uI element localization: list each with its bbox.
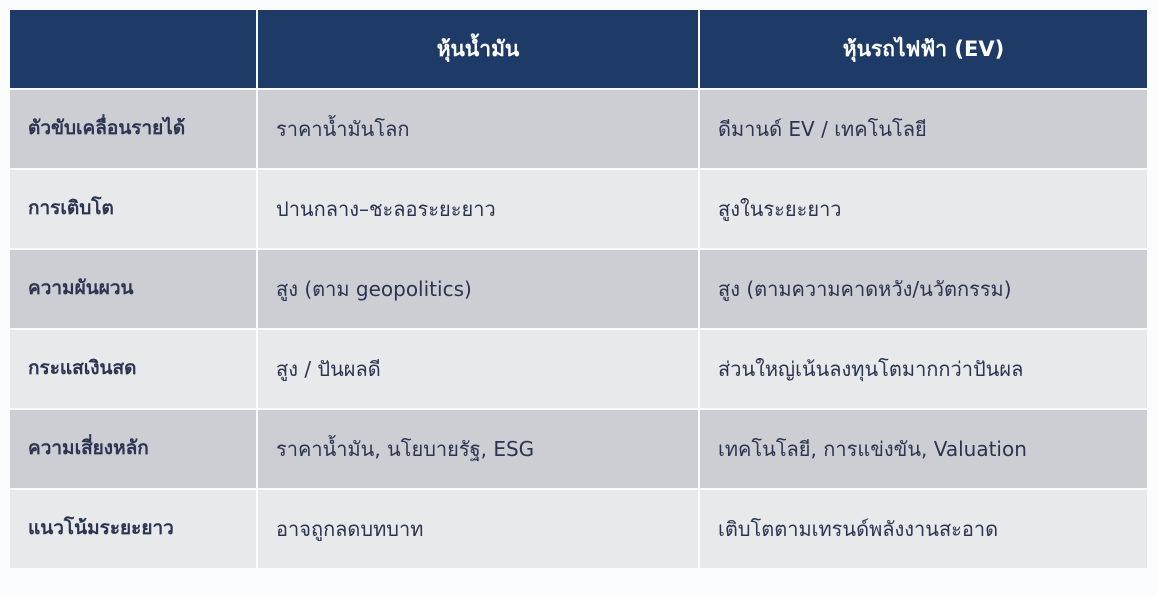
- cell-oil-volatility: สูง (ตาม geopolitics): [258, 248, 700, 328]
- cell-oil-key-risk: ราคาน้ำมัน, นโยบายรัฐ, ESG: [258, 408, 700, 488]
- cell-oil-growth: ปานกลาง–ชะลอระยะยาว: [258, 168, 700, 248]
- comparison-table: หุ้นน้ำมัน หุ้นรถไฟฟ้า (EV) ตัวขับเคลื่อ…: [10, 10, 1147, 568]
- column-header-ev-stocks: หุ้นรถไฟฟ้า (EV): [700, 10, 1147, 88]
- table-row: แนวโน้มระยะยาว อาจถูกลดบทบาท เติบโตตามเท…: [10, 488, 1147, 568]
- row-label-revenue-driver: ตัวขับเคลื่อนรายได้: [10, 88, 258, 168]
- cell-ev-long-term-outlook: เติบโตตามเทรนด์พลังงานสะอาด: [700, 488, 1147, 568]
- comparison-table-container: หุ้นน้ำมัน หุ้นรถไฟฟ้า (EV) ตัวขับเคลื่อ…: [10, 10, 1147, 573]
- cell-oil-revenue-driver: ราคาน้ำมันโลก: [258, 88, 700, 168]
- cell-ev-key-risk: เทคโนโลยี, การแข่งขัน, Valuation: [700, 408, 1147, 488]
- row-label-cash-flow: กระแสเงินสด: [10, 328, 258, 408]
- table-row: กระแสเงินสด สูง / ปันผลดี ส่วนใหญ่เน้นลง…: [10, 328, 1147, 408]
- row-label-volatility: ความผันผวน: [10, 248, 258, 328]
- table-header-row: หุ้นน้ำมัน หุ้นรถไฟฟ้า (EV): [10, 10, 1147, 88]
- cell-ev-cash-flow: ส่วนใหญ่เน้นลงทุนโตมากกว่าปันผล: [700, 328, 1147, 408]
- table-row: การเติบโต ปานกลาง–ชะลอระยะยาว สูงในระยะย…: [10, 168, 1147, 248]
- row-label-long-term-outlook: แนวโน้มระยะยาว: [10, 488, 258, 568]
- cell-ev-revenue-driver: ดีมานด์ EV / เทคโนโลยี: [700, 88, 1147, 168]
- cell-oil-long-term-outlook: อาจถูกลดบทบาท: [258, 488, 700, 568]
- cell-ev-growth: สูงในระยะยาว: [700, 168, 1147, 248]
- row-label-growth: การเติบโต: [10, 168, 258, 248]
- table-row: ความเสี่ยงหลัก ราคาน้ำมัน, นโยบายรัฐ, ES…: [10, 408, 1147, 488]
- table-row: ความผันผวน สูง (ตาม geopolitics) สูง (ตา…: [10, 248, 1147, 328]
- table-body: ตัวขับเคลื่อนรายได้ ราคาน้ำมันโลก ดีมานด…: [10, 88, 1147, 568]
- table-header: หุ้นน้ำมัน หุ้นรถไฟฟ้า (EV): [10, 10, 1147, 88]
- row-label-key-risk: ความเสี่ยงหลัก: [10, 408, 258, 488]
- column-header-oil-stocks: หุ้นน้ำมัน: [258, 10, 700, 88]
- column-header-attribute: [10, 10, 258, 88]
- table-row: ตัวขับเคลื่อนรายได้ ราคาน้ำมันโลก ดีมานด…: [10, 88, 1147, 168]
- cell-oil-cash-flow: สูง / ปันผลดี: [258, 328, 700, 408]
- cell-ev-volatility: สูง (ตามความคาดหวัง/นวัตกรรม): [700, 248, 1147, 328]
